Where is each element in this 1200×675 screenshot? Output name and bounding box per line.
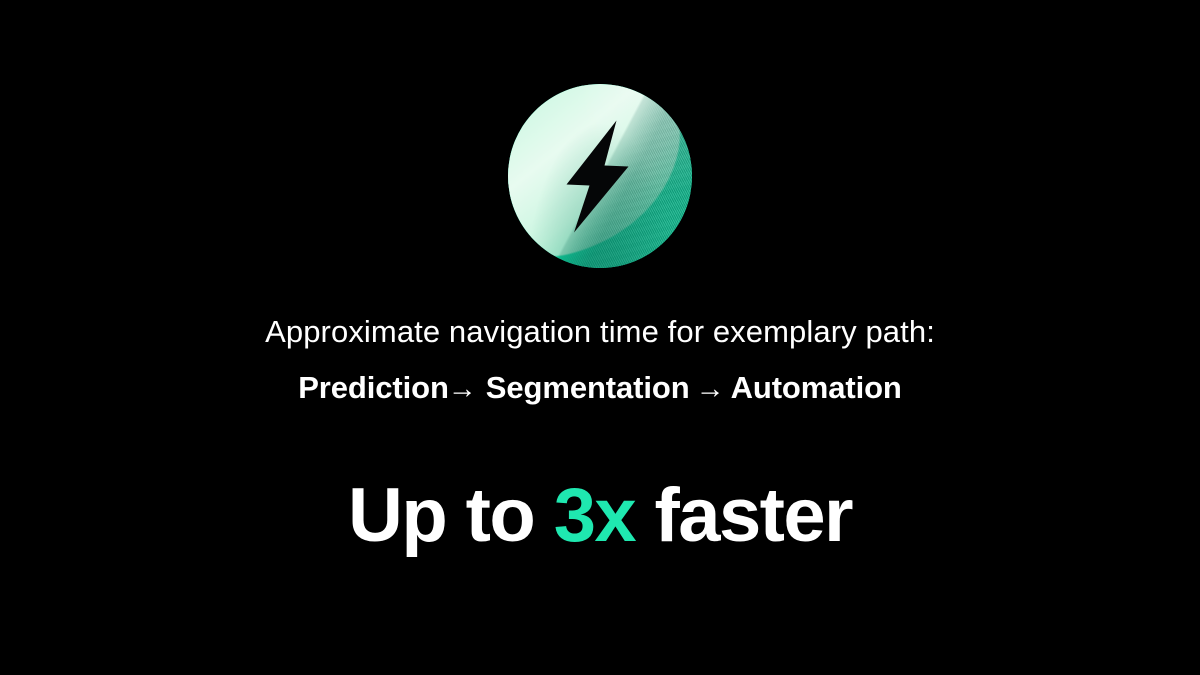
headline: Up to 3x faster xyxy=(0,474,1200,558)
caption-text: Approximate navigation time for exemplar… xyxy=(0,314,1200,350)
navigation-path: Prediction→Segmentation→Automation xyxy=(0,370,1200,406)
headline-accent-value: 3x xyxy=(554,473,635,558)
path-arrow-icon-2: → xyxy=(696,373,725,405)
path-step-prediction: Prediction xyxy=(298,370,449,405)
lightning-bolt-badge-icon xyxy=(508,84,692,268)
headline-suffix: faster xyxy=(635,473,852,558)
path-step-automation: Automation xyxy=(731,370,902,405)
headline-prefix: Up to xyxy=(348,473,554,558)
logo-container xyxy=(508,84,692,268)
slide-root: Approximate navigation time for exemplar… xyxy=(0,0,1200,675)
path-step-segmentation: Segmentation xyxy=(486,370,690,405)
lightning-bolt-icon xyxy=(508,84,692,268)
path-arrow-icon-1: → xyxy=(448,373,477,405)
